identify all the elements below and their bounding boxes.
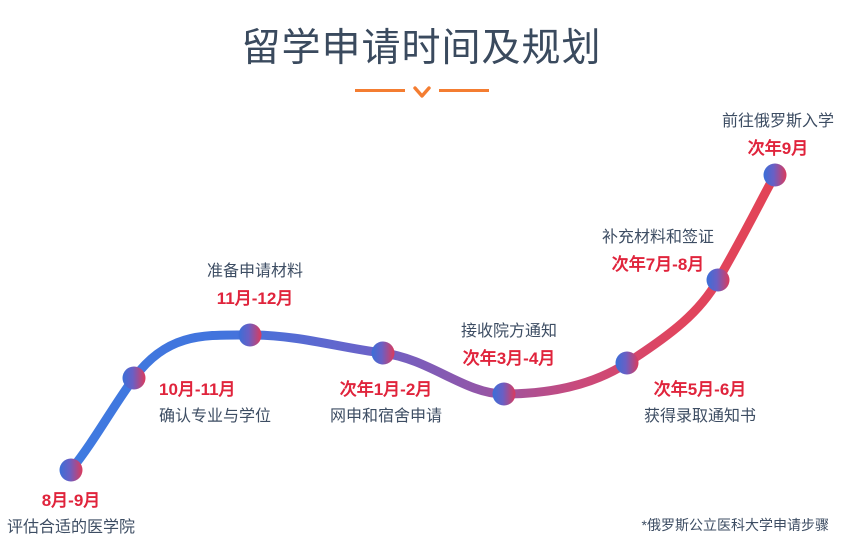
node-description: 网申和宿舍申请: [330, 403, 442, 430]
node-period: 10月-11月: [159, 376, 271, 403]
node-period: 次年3月-4月: [461, 345, 557, 372]
node-description: 评估合适的医学院: [7, 514, 135, 541]
node-period: 次年5月-6月: [644, 376, 756, 403]
chevron-down-icon: [413, 85, 431, 99]
timeline-node-label: 前往俄罗斯入学次年9月: [722, 108, 834, 162]
timeline-node-dot[interactable]: [764, 164, 787, 187]
timeline-node-dot[interactable]: [123, 367, 146, 390]
node-description: 补充材料和签证: [602, 224, 714, 251]
footnote: *俄罗斯公立医科大学申请步骤: [642, 515, 829, 535]
timeline-node-label: 10月-11月确认专业与学位: [159, 376, 271, 430]
timeline-node-dot[interactable]: [493, 383, 516, 406]
timeline-dots: [60, 164, 787, 482]
timeline-node-dot[interactable]: [616, 352, 639, 375]
timeline-node-label: 准备申请材料11月-12月: [207, 258, 303, 312]
divider-bar-right: [439, 89, 489, 92]
timeline-node-label: 8月-9月评估合适的医学院: [7, 487, 135, 541]
node-period: 次年9月: [722, 135, 834, 162]
header: 留学申请时间及规划: [0, 24, 843, 105]
node-description: 前往俄罗斯入学: [722, 108, 834, 135]
divider-bar-left: [355, 89, 405, 92]
node-description: 准备申请材料: [207, 258, 303, 285]
node-period: 8月-9月: [7, 487, 135, 514]
timeline-node-label: 次年5月-6月获得录取通知书: [644, 376, 756, 430]
timeline-node-dot[interactable]: [372, 342, 395, 365]
timeline-node-dot[interactable]: [60, 459, 83, 482]
infographic-root: 留学申请时间及规划: [0, 0, 843, 557]
node-description: 获得录取通知书: [644, 403, 756, 430]
page-title: 留学申请时间及规划: [0, 24, 843, 74]
node-period: 11月-12月: [207, 285, 303, 312]
timeline-node-label: 补充材料和签证次年7月-8月: [602, 224, 714, 278]
timeline-node-label: 次年1月-2月网申和宿舍申请: [330, 376, 442, 430]
node-description: 接收院方通知: [461, 318, 557, 345]
title-divider: [355, 85, 489, 105]
timeline-node-dot[interactable]: [239, 324, 262, 347]
node-description: 确认专业与学位: [159, 403, 271, 430]
timeline-node-label: 接收院方通知次年3月-4月: [461, 318, 557, 372]
node-period: 次年1月-2月: [330, 376, 442, 403]
node-period: 次年7月-8月: [602, 251, 714, 278]
